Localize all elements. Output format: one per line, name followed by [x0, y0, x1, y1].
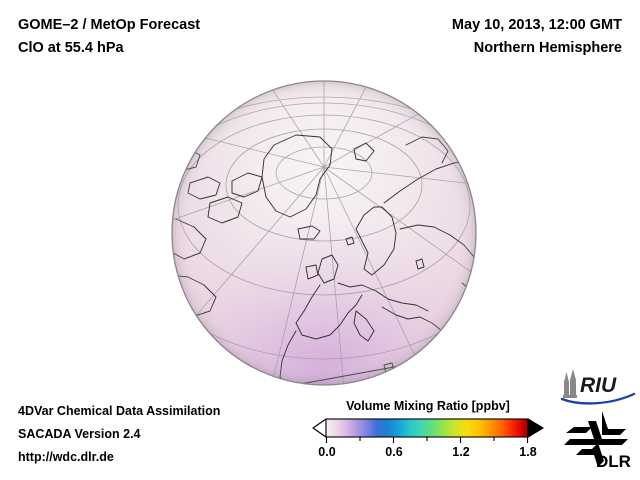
coast-arabia [434, 337, 464, 377]
dlr-logo-text: DLR [596, 452, 631, 471]
hemisphere-label: Northern Hemisphere [452, 37, 622, 60]
timestamp-label: May 10, 2013, 12:00 GMT [452, 14, 622, 37]
colorbar-ticks [327, 437, 528, 443]
colorbar-title: Volume Mixing Ratio [ppbv] [312, 398, 544, 414]
header-left: GOME–2 / MetOp Forecast ClO at 55.4 hPa [18, 14, 200, 60]
globe-map [170, 79, 478, 387]
website-url[interactable]: http://wdc.dlr.de [18, 446, 220, 469]
instrument-title: GOME–2 / MetOp Forecast [18, 14, 200, 37]
footer-info: 4DVar Chemical Data Assimilation SACADA … [18, 400, 220, 469]
colorbar-scale [312, 418, 544, 444]
header-right: May 10, 2013, 12:00 GMT Northern Hemisph… [452, 14, 622, 60]
colorbar-tick-label-3: 1.8 [519, 445, 536, 459]
assimilation-method-label: 4DVar Chemical Data Assimilation [18, 400, 220, 423]
species-level-label: ClO at 55.4 hPa [18, 37, 200, 60]
colorbar-tick-label-2: 1.2 [452, 445, 469, 459]
colorbar-gradient-bar [326, 419, 528, 437]
colorbar-tick-label-0: 0.0 [318, 445, 335, 459]
riu-logo-text: RIU [580, 374, 617, 397]
globe-limb-shading [172, 81, 476, 385]
visualization-page: GOME–2 / MetOp Forecast ClO at 55.4 hPa … [0, 0, 640, 480]
colorbar-tick-labels: 0.0 0.6 1.2 1.8 [312, 445, 544, 463]
colorbar-right-arrow-cap [528, 419, 543, 437]
colorbar-tick-label-1: 0.6 [385, 445, 402, 459]
riu-tower-icon [563, 369, 577, 398]
globe-svg [170, 79, 478, 387]
software-version-label: SACADA Version 2.4 [18, 423, 220, 446]
colorbar-left-arrow-cap [313, 419, 326, 437]
riu-logo: RIU [558, 369, 636, 405]
colorbar: Volume Mixing Ratio [ppbv] [312, 398, 544, 463]
dlr-logo: DLR [562, 409, 638, 471]
